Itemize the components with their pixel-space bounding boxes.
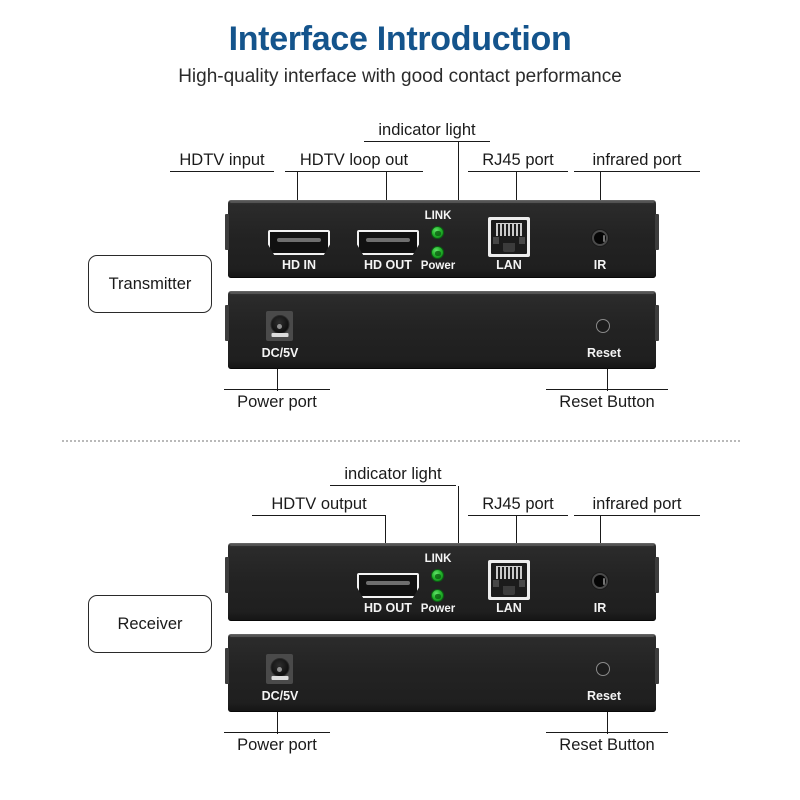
hdmi-out-port[interactable] bbox=[357, 573, 419, 598]
callout-infrared-port-rx: infrared port bbox=[574, 494, 700, 516]
hdmi-in-port[interactable] bbox=[268, 230, 330, 255]
chassis-ear-right bbox=[655, 557, 659, 593]
led-link bbox=[431, 569, 444, 582]
callout-label: HDTV loop out bbox=[285, 150, 423, 170]
reset-silk: Reset bbox=[573, 346, 635, 360]
chassis-ear-left bbox=[225, 648, 229, 684]
rj45-clip-right bbox=[519, 237, 525, 244]
led-link-silk: LINK bbox=[410, 553, 466, 565]
dc-mouth bbox=[271, 333, 288, 337]
hdmi-slot bbox=[366, 581, 410, 585]
callout-rj45-port: RJ45 port bbox=[468, 150, 568, 172]
dc-barrel bbox=[270, 315, 289, 334]
callout-underline bbox=[252, 515, 386, 516]
rj45-lan-port[interactable] bbox=[488, 217, 530, 257]
ir-jack-port[interactable] bbox=[592, 573, 608, 589]
led-power-silk: Power bbox=[408, 260, 468, 272]
hdmi-slot bbox=[277, 238, 321, 242]
leader-indicator-light bbox=[458, 142, 459, 204]
ir-jack-silk: IR bbox=[575, 258, 625, 272]
callout-reset-button: Reset Button bbox=[546, 389, 668, 412]
callout-label: indicator light bbox=[364, 120, 490, 140]
dc-center-pin bbox=[277, 324, 282, 329]
diagram-canvas: Interface Introduction High-quality inte… bbox=[0, 0, 800, 800]
rj45-lan-silk: LAN bbox=[479, 601, 539, 615]
reset-hole[interactable] bbox=[596, 319, 610, 333]
callout-label: Reset Button bbox=[546, 735, 668, 755]
transmitter-back-panel: DC/5V Reset bbox=[228, 291, 656, 369]
callout-underline bbox=[224, 389, 330, 390]
dc-power-jack[interactable] bbox=[266, 311, 293, 341]
led-link-silk: LINK bbox=[410, 210, 466, 222]
callout-rj45-port-rx: RJ45 port bbox=[468, 494, 568, 516]
callout-label: Power port bbox=[224, 735, 330, 755]
led-power-silk: Power bbox=[408, 603, 468, 615]
rj45-cavity bbox=[491, 220, 527, 254]
callout-underline bbox=[574, 171, 700, 172]
callout-label: RJ45 port bbox=[468, 494, 568, 514]
callout-label: Reset Button bbox=[546, 392, 668, 412]
reset-silk: Reset bbox=[573, 689, 635, 703]
role-box-receiver: Receiver bbox=[88, 595, 212, 653]
leader-power-port bbox=[277, 369, 278, 391]
chassis-ear-right bbox=[655, 214, 659, 250]
rj45-lan-port[interactable] bbox=[488, 560, 530, 600]
leader-indicator-light-rx bbox=[458, 486, 459, 548]
hdmi-in-silk: HD IN bbox=[259, 258, 339, 272]
callout-label: indicator light bbox=[330, 464, 456, 484]
dc-barrel bbox=[270, 658, 289, 677]
ir-jack-silk: IR bbox=[575, 601, 625, 615]
receiver-back-panel: DC/5V Reset bbox=[228, 634, 656, 712]
callout-underline bbox=[468, 171, 568, 172]
callout-underline bbox=[546, 389, 668, 390]
led-power bbox=[431, 246, 444, 259]
transmitter-front-panel: HD IN HD OUT LINK Power LAN IR bbox=[228, 200, 656, 278]
callout-power-port-rx: Power port bbox=[224, 732, 330, 755]
dc-center-pin bbox=[277, 667, 282, 672]
callout-underline bbox=[285, 171, 423, 172]
callout-underline bbox=[574, 515, 700, 516]
receiver-front-panel: HD OUT LINK Power LAN IR bbox=[228, 543, 656, 621]
role-box-transmitter: Transmitter bbox=[88, 255, 212, 313]
leader-reset-button-rx bbox=[607, 712, 608, 734]
callout-hdtv-output: HDTV output bbox=[252, 494, 386, 516]
leader-reset-button bbox=[607, 369, 608, 391]
chassis-ear-right bbox=[655, 305, 659, 341]
rj45-pins bbox=[496, 223, 522, 236]
rj45-tab-slot bbox=[503, 586, 515, 595]
role-label: Transmitter bbox=[109, 275, 192, 294]
role-label: Receiver bbox=[117, 615, 182, 634]
rj45-tab-slot bbox=[503, 243, 515, 252]
section-divider bbox=[62, 440, 740, 442]
callout-hdtv-input: HDTV input bbox=[170, 150, 274, 172]
callout-reset-button-rx: Reset Button bbox=[546, 732, 668, 755]
rj45-lan-silk: LAN bbox=[479, 258, 539, 272]
callout-underline bbox=[330, 485, 456, 486]
ir-jack-port[interactable] bbox=[592, 230, 608, 246]
chassis-ear-left bbox=[225, 214, 229, 250]
chassis-ear-left bbox=[225, 305, 229, 341]
callout-label: Power port bbox=[224, 392, 330, 412]
led-power bbox=[431, 589, 444, 602]
callout-label: infrared port bbox=[574, 494, 700, 514]
reset-hole[interactable] bbox=[596, 662, 610, 676]
rj45-pins bbox=[496, 566, 522, 579]
chassis-ear-left bbox=[225, 557, 229, 593]
leader-power-port-rx bbox=[277, 712, 278, 734]
callout-indicator-light: indicator light bbox=[364, 120, 490, 142]
rj45-clip-left bbox=[493, 237, 499, 244]
callout-underline bbox=[468, 515, 568, 516]
rj45-cavity bbox=[491, 563, 527, 597]
dc-jack-silk: DC/5V bbox=[249, 689, 311, 703]
dc-power-jack[interactable] bbox=[266, 654, 293, 684]
dc-jack-silk: DC/5V bbox=[249, 346, 311, 360]
callout-power-port: Power port bbox=[224, 389, 330, 412]
hdmi-slot bbox=[366, 238, 410, 242]
rj45-clip-left bbox=[493, 580, 499, 587]
hdmi-out-port[interactable] bbox=[357, 230, 419, 255]
page-title: Interface Introduction bbox=[0, 20, 800, 59]
chassis-ear-right bbox=[655, 648, 659, 684]
callout-underline bbox=[224, 732, 330, 733]
callout-label: RJ45 port bbox=[468, 150, 568, 170]
callout-label: HDTV input bbox=[170, 150, 274, 170]
callout-underline bbox=[364, 141, 490, 142]
callout-label: HDTV output bbox=[252, 494, 386, 514]
dc-mouth bbox=[271, 676, 288, 680]
led-link bbox=[431, 226, 444, 239]
callout-hdtv-loop-out: HDTV loop out bbox=[285, 150, 423, 172]
rj45-clip-right bbox=[519, 580, 525, 587]
callout-underline bbox=[170, 171, 274, 172]
callout-underline bbox=[546, 732, 668, 733]
page-subtitle: High-quality interface with good contact… bbox=[0, 66, 800, 88]
callout-infrared-port: infrared port bbox=[574, 150, 700, 172]
callout-indicator-light-rx: indicator light bbox=[330, 464, 456, 486]
callout-label: infrared port bbox=[574, 150, 700, 170]
